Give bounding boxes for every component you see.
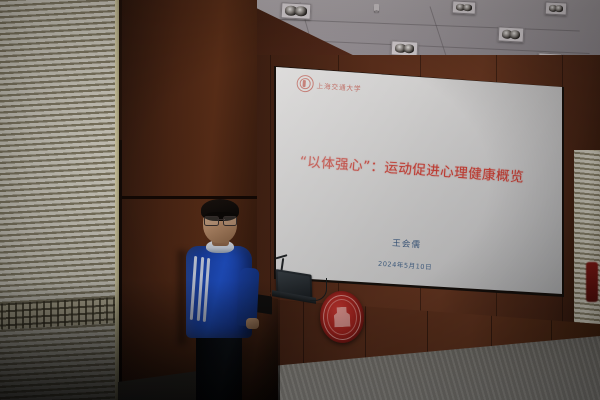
recessed-spot-light-icon	[281, 2, 312, 20]
recessed-spot-light-icon	[452, 0, 477, 14]
fire-sprinkler-icon	[374, 4, 379, 11]
recessed-spot-light-icon	[498, 26, 525, 42]
recessed-spot-light-icon	[545, 1, 568, 15]
speaker-hand	[246, 318, 259, 329]
speaker-legs	[196, 332, 242, 400]
panel-edge-trim	[115, 0, 119, 400]
red-object	[586, 262, 598, 302]
acoustic-slat-panel-left	[0, 0, 118, 400]
screen-glare	[276, 64, 562, 298]
glasses-icon	[204, 216, 237, 224]
projection-screen[interactable]: 上海交通大学 “以体强心”：运动促进心理健康概览 王会儒 2024年5月10日	[276, 64, 562, 298]
lecture-hall-scene: 上海交通大学 “以体强心”：运动促进心理健康概览 王会儒 2024年5月10日	[0, 0, 600, 400]
